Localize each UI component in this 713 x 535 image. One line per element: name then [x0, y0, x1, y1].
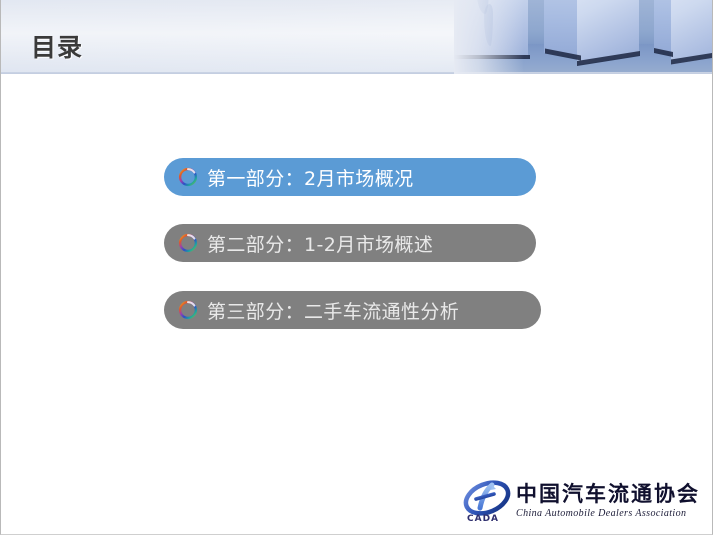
menu-item-part-2-label: 第二部分：1-2月市场概述 — [207, 230, 433, 257]
cada-name-cn: 中国汽车流通协会 — [516, 483, 700, 505]
rainbow-ring-icon — [177, 232, 199, 254]
rainbow-ring-icon — [177, 299, 199, 321]
menu-item-part-1-label: 第一部分：2月市场概况 — [207, 164, 414, 191]
presentation-slide: 目录 第一部分：2月市场概况 — [0, 0, 713, 535]
menu-item-part-3-label: 第三部分：二手车流通性分析 — [207, 297, 459, 324]
agenda-menu: 第一部分：2月市场概况 第二部分：1-2月市场概述 — [1, 0, 713, 535]
cada-name-en: China Automobile Dealers Association — [516, 508, 700, 519]
cada-emblem-icon: CADA — [462, 478, 512, 524]
menu-item-part-2[interactable]: 第二部分：1-2月市场概述 — [164, 224, 536, 262]
cada-logo: CADA 中国汽车流通协会 China Automobile Dealers A… — [462, 476, 700, 526]
menu-item-part-1[interactable]: 第一部分：2月市场概况 — [164, 158, 536, 196]
menu-item-part-3[interactable]: 第三部分：二手车流通性分析 — [164, 291, 541, 329]
cada-logo-text: 中国汽车流通协会 China Automobile Dealers Associ… — [516, 483, 700, 518]
cada-abbreviation: CADA — [467, 514, 499, 524]
rainbow-ring-icon — [177, 166, 199, 188]
cubes-left-fade — [454, 0, 524, 74]
